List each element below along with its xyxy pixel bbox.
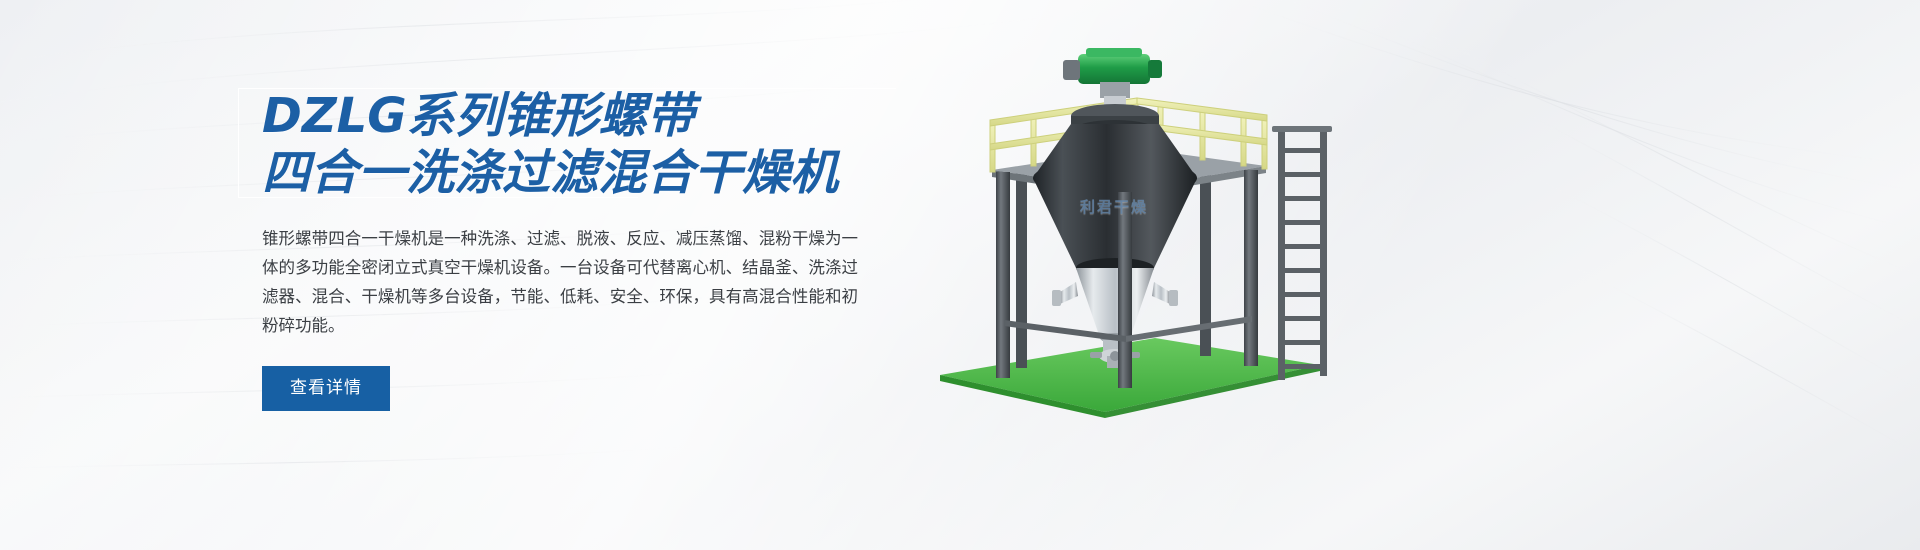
access-ladder xyxy=(1272,126,1332,380)
view-details-button[interactable]: 查看详情 xyxy=(262,366,390,411)
hero-text-block: DZLG系列锥形螺带 四合一洗涤过滤混合干燥机 锥形螺带四合一干燥机是一种洗涤、… xyxy=(256,88,876,411)
page-title: DZLG系列锥形螺带 四合一洗涤过滤混合干燥机 xyxy=(256,88,876,202)
product-description: 锥形螺带四合一干燥机是一种洗涤、过滤、脱液、反应、减压蒸馏、混粉干燥为一体的多功… xyxy=(262,224,858,340)
title-line-2: 四合一洗涤过滤混合干燥机 xyxy=(256,145,876,202)
product-illustration xyxy=(900,20,1360,440)
title-line-1: DZLG系列锥形螺带 xyxy=(256,88,876,145)
hero-banner: DZLG系列锥形螺带 四合一洗涤过滤混合干燥机 锥形螺带四合一干燥机是一种洗涤、… xyxy=(0,0,1920,550)
